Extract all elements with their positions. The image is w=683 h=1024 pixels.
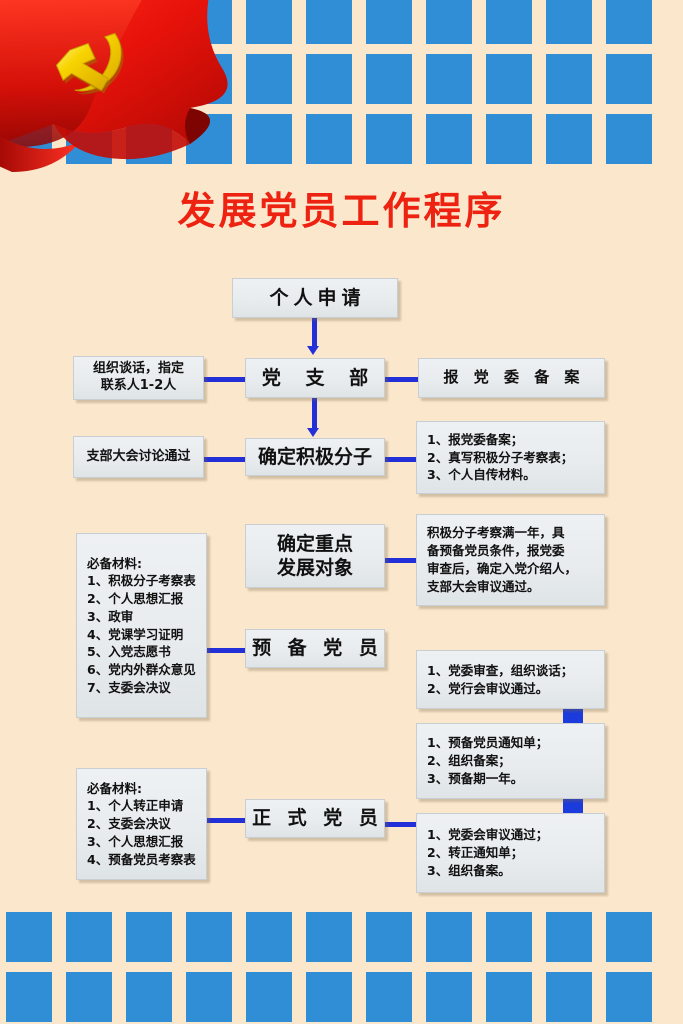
list-full-member-steps: 1、党委会审议通过；2、转正通知单；3、组织备案。	[417, 826, 604, 879]
hammer-and-sickle-emblem	[46, 26, 132, 106]
box-key-target-right-note[interactable]: 积极分子考察满一年，具备预备党员条件，报党委审查后，确定入党介绍人，支部大会审议…	[416, 514, 605, 606]
top-grid-cell-1-8	[486, 54, 532, 104]
connector-fullmember-left	[203, 818, 245, 823]
required-materials-1-item-1: 2、个人思想汇报	[87, 590, 200, 608]
box-required-materials-2[interactable]: 必备材料:1、个人转正申请2、支委会决议3、个人思想汇报4、预备党员考察表	[76, 768, 207, 880]
top-grid-cell-0-10	[606, 0, 652, 44]
required-materials-1-item-5: 6、党内外群众意见	[87, 661, 200, 679]
list-probationary-notices: 1、预备党员通知单；2、组织备案；3、预备期一年。	[417, 734, 604, 787]
bottom-grid-cell-1-1	[66, 972, 112, 1022]
bottom-grid-cell-0-5	[306, 912, 352, 962]
bottom-grid-cell-0-2	[126, 912, 172, 962]
label-branch-left-note-line2: 联系人1-2人	[101, 378, 177, 395]
bottom-grid-cell-0-4	[246, 912, 292, 962]
connector-square-lower	[563, 799, 583, 813]
top-grid-cell-0-8	[486, 0, 532, 44]
key-target-line-2: 审查后，确定入党介绍人，	[427, 560, 596, 578]
bottom-grid-cell-0-0	[6, 912, 52, 962]
top-grid-cell-2-7	[426, 114, 472, 164]
list-required-materials-2: 必备材料:1、个人转正申请2、支委会决议3、个人思想汇报4、预备党员考察表	[77, 780, 206, 869]
bottom-grid-cell-1-7	[426, 972, 472, 1022]
bottom-grid-cell-1-3	[186, 972, 232, 1022]
key-target-line-1: 备预备党员条件，报党委	[427, 542, 596, 560]
label-party-branch: 党 支 部	[253, 366, 377, 390]
full-member-step-0: 1、党委会审议通过；	[427, 826, 598, 844]
required-materials-1-heading: 必备材料:	[87, 555, 200, 573]
bottom-grid-cell-1-8	[486, 972, 532, 1022]
bottom-grid-cell-0-9	[546, 912, 592, 962]
full-member-step-2: 3、组织备案。	[427, 862, 598, 880]
top-grid-cell-0-9	[546, 0, 592, 44]
top-grid-cell-1-7	[426, 54, 472, 104]
label-report-to-party-committee: 报 党 委 备 案	[439, 368, 585, 387]
list-required-materials-1: 必备材料:1、积极分子考察表2、个人思想汇报3、政审4、党课学习证明5、入党志愿…	[77, 555, 206, 697]
activist-item-2: 3、个人自传材料。	[427, 466, 598, 484]
top-grid-cell-2-9	[546, 114, 592, 164]
top-grid-cell-2-10	[606, 114, 652, 164]
required-materials-2-item-1: 2、支委会决议	[87, 815, 200, 833]
label-key-target-line2: 发展对象	[277, 556, 353, 580]
required-materials-2-item-3: 4、预备党员考察表	[87, 851, 200, 869]
connector-branch-to-activist	[312, 398, 317, 430]
box-party-branch[interactable]: 党 支 部	[245, 358, 385, 398]
required-materials-1-item-2: 3、政审	[87, 608, 200, 626]
label-branch-left-note-line1: 组织谈话，指定	[93, 361, 184, 378]
connector-branch-left	[203, 377, 245, 382]
probationary-notice-0: 1、预备党员通知单；	[427, 734, 598, 752]
bottom-decorative-grid	[0, 908, 683, 1024]
list-activist-requirements: 1、报党委备案；2、真写积极分子考察表；3、个人自传材料。	[417, 431, 604, 484]
poster-root: 发展党员工作程序 个人申请 党 支 部 组织谈话，指定 联系人1-2人 报 党 …	[0, 0, 683, 1024]
bottom-grid-cell-1-5	[306, 972, 352, 1022]
top-grid-cell-1-9	[546, 54, 592, 104]
required-materials-1-item-0: 1、积极分子考察表	[87, 572, 200, 590]
box-branch-meeting-approval[interactable]: 支部大会讨论通过	[73, 436, 204, 478]
required-materials-1-item-6: 7、支委会决议	[87, 679, 200, 697]
bottom-grid-cell-1-9	[546, 972, 592, 1022]
top-grid-cell-2-6	[366, 114, 412, 164]
required-materials-2-item-0: 1、个人转正申请	[87, 797, 200, 815]
label-full-member: 正 式 党 员	[247, 806, 383, 830]
probationary-notice-2: 3、预备期一年。	[427, 770, 598, 788]
arrow-application-to-branch	[307, 346, 319, 355]
label-branch-meeting-approval: 支部大会讨论通过	[86, 449, 190, 466]
probationary-step-0: 1、党委审查，组织谈话；	[427, 662, 598, 680]
connector-square-upper	[563, 709, 583, 723]
arrow-branch-to-activist	[307, 428, 319, 437]
full-member-step-1: 2、转正通知单；	[427, 844, 598, 862]
bottom-grid-cell-0-3	[186, 912, 232, 962]
activist-item-0: 1、报党委备案；	[427, 431, 598, 449]
label-key-target-line1: 确定重点	[277, 532, 353, 556]
bottom-grid-cell-1-10	[606, 972, 652, 1022]
activist-item-1: 2、真写积极分子考察表；	[427, 449, 598, 467]
label-confirm-activist: 确定积极分子	[258, 445, 372, 469]
probationary-notice-1: 2、组织备案；	[427, 752, 598, 770]
box-activist-right-list[interactable]: 1、报党委备案；2、真写积极分子考察表；3、个人自传材料。	[416, 421, 605, 494]
required-materials-2-item-2: 3、个人思想汇报	[87, 833, 200, 851]
label-probationary-member: 预 备 党 员	[247, 636, 383, 660]
connector-application-to-branch	[312, 318, 317, 348]
required-materials-1-item-4: 5、入党志愿书	[87, 643, 200, 661]
box-branch-left-note[interactable]: 组织谈话，指定 联系人1-2人	[73, 356, 204, 400]
top-grid-cell-0-6	[366, 0, 412, 44]
bottom-grid-cell-0-6	[366, 912, 412, 962]
box-full-member[interactable]: 正 式 党 员	[245, 799, 385, 838]
box-probationary-right-list-1[interactable]: 1、党委审查，组织谈话；2、党行会审议通过。	[416, 650, 605, 709]
top-grid-cell-1-6	[366, 54, 412, 104]
probationary-step-1: 2、党行会审议通过。	[427, 680, 598, 698]
box-probationary-member[interactable]: 预 备 党 员	[245, 629, 385, 668]
bottom-grid-cell-0-8	[486, 912, 532, 962]
top-grid-cell-0-7	[426, 0, 472, 44]
poster-title: 发展党员工作程序	[0, 186, 683, 236]
bottom-grid-cell-0-10	[606, 912, 652, 962]
box-full-member-right-list[interactable]: 1、党委会审议通过；2、转正通知单；3、组织备案。	[416, 813, 605, 893]
box-report-to-party-committee[interactable]: 报 党 委 备 案	[418, 358, 605, 398]
required-materials-1-item-3: 4、党课学习证明	[87, 626, 200, 644]
box-required-materials-1[interactable]: 必备材料:1、积极分子考察表2、个人思想汇报3、政审4、党课学习证明5、入党志愿…	[76, 533, 207, 718]
key-target-line-0: 积极分子考察满一年，具	[427, 524, 596, 542]
bottom-grid-cell-1-0	[6, 972, 52, 1022]
text-key-target-condition: 积极分子考察满一年，具备预备党员条件，报党委审查后，确定入党介绍人，支部大会审议…	[417, 520, 604, 601]
bottom-grid-cell-1-2	[126, 972, 172, 1022]
bottom-grid-cell-1-4	[246, 972, 292, 1022]
top-grid-cell-1-10	[606, 54, 652, 104]
bottom-grid-cell-0-7	[426, 912, 472, 962]
connector-activist-left	[203, 457, 245, 462]
box-probationary-right-list-2[interactable]: 1、预备党员通知单；2、组织备案；3、预备期一年。	[416, 723, 605, 799]
list-probationary-steps: 1、党委审查，组织谈话；2、党行会审议通过。	[417, 662, 604, 698]
bottom-grid-cell-1-6	[366, 972, 412, 1022]
label-personal-application: 个人申请	[264, 286, 365, 310]
top-grid-cell-2-8	[486, 114, 532, 164]
box-confirm-activist[interactable]: 确定积极分子	[245, 438, 385, 476]
required-materials-2-heading: 必备材料:	[87, 780, 200, 798]
bottom-grid-cell-0-1	[66, 912, 112, 962]
box-personal-application[interactable]: 个人申请	[232, 278, 398, 318]
box-key-development-target[interactable]: 确定重点 发展对象	[245, 524, 385, 588]
key-target-line-3: 支部大会审议通过。	[427, 578, 596, 596]
connector-probationary-left	[203, 648, 245, 653]
